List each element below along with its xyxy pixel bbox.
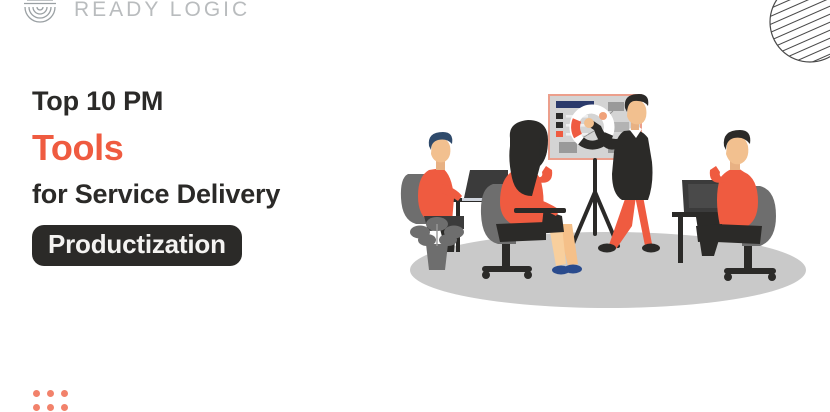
dot	[33, 404, 40, 411]
concentric-arcs-dome-icon	[18, 0, 62, 24]
headline-line-3: for Service Delivery	[32, 181, 432, 208]
banner-canvas: READY LOGIC	[0, 0, 830, 412]
dot	[47, 404, 54, 411]
brand-logo[interactable]: READY LOGIC	[18, 0, 250, 24]
headline-line-1: Top 10 PM	[32, 88, 432, 115]
tripod	[572, 160, 618, 246]
dot	[61, 404, 68, 411]
dot	[47, 390, 54, 397]
dot	[61, 390, 68, 397]
team-presentation-illustration	[396, 74, 816, 309]
headline-pill-badge: Productization	[32, 225, 242, 266]
headline-accent: Tools	[32, 130, 432, 166]
brand-name: READY LOGIC	[74, 0, 250, 20]
headline-block: Top 10 PM Tools for Service Delivery Pro…	[32, 88, 432, 266]
dot	[33, 390, 40, 397]
hatched-circle-icon	[764, 0, 830, 68]
decorative-dots-grid	[31, 388, 71, 412]
